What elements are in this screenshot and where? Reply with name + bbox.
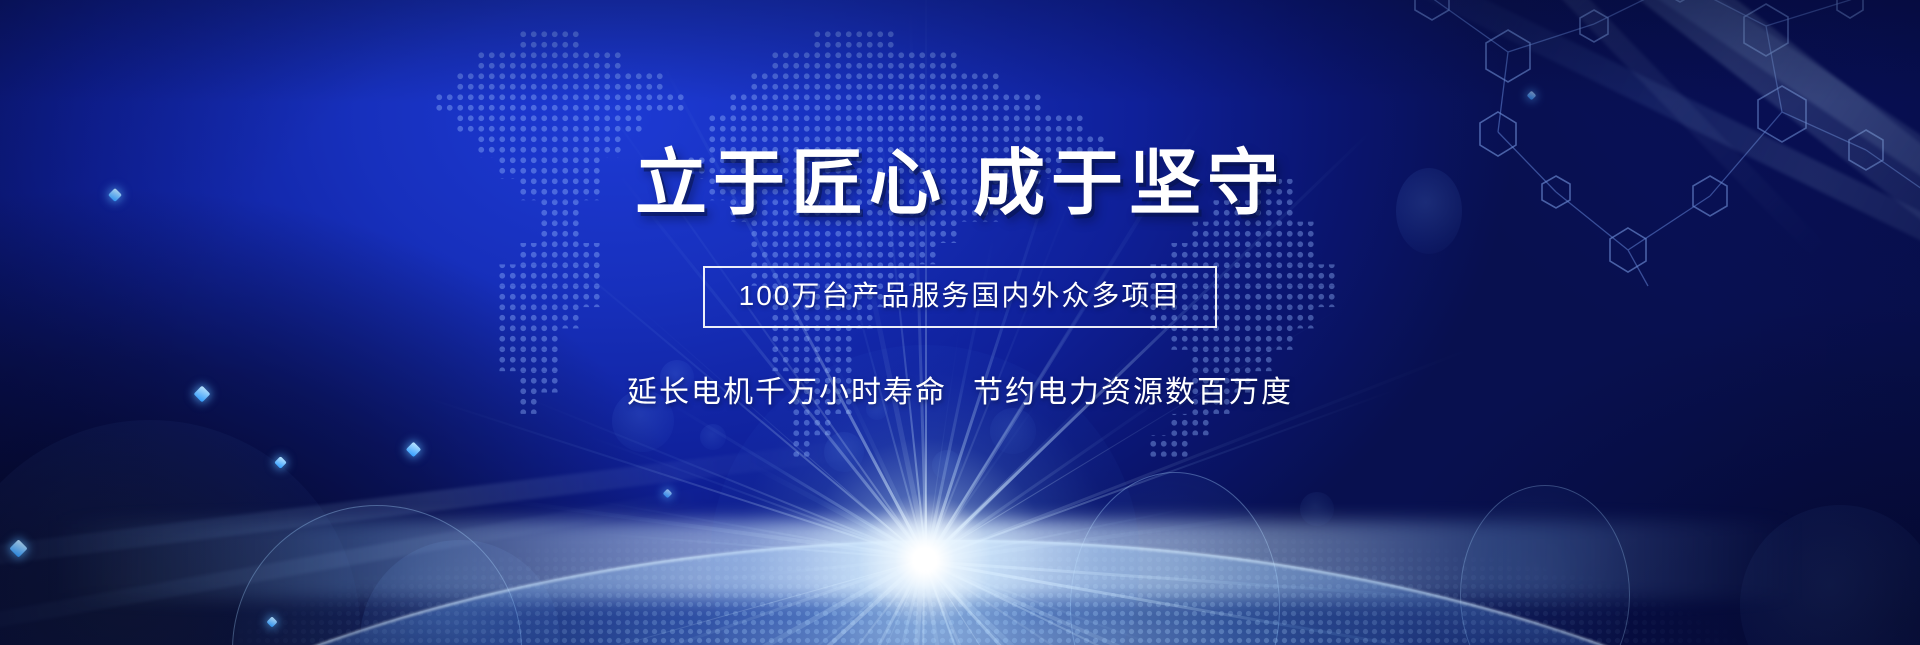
tagline-left: 延长电机千万小时寿命 <box>627 376 947 409</box>
page-title: 立于匠心成于坚守 <box>0 148 1920 220</box>
headline-part-2: 成于坚守 <box>973 144 1285 224</box>
headline-part-1: 立于匠心 <box>635 144 947 224</box>
banner-content: 立于匠心成于坚守 100万台产品服务国内外众多项目 延长电机千万小时寿命节约电力… <box>0 0 1920 411</box>
tagline-right: 节约电力资源数百万度 <box>973 376 1293 409</box>
boxed-subtitle: 100万台产品服务国内外众多项目 <box>703 266 1218 328</box>
hero-banner: 立于匠心成于坚守 100万台产品服务国内外众多项目 延长电机千万小时寿命节约电力… <box>0 0 1920 645</box>
tagline: 延长电机千万小时寿命节约电力资源数百万度 <box>0 367 1920 411</box>
